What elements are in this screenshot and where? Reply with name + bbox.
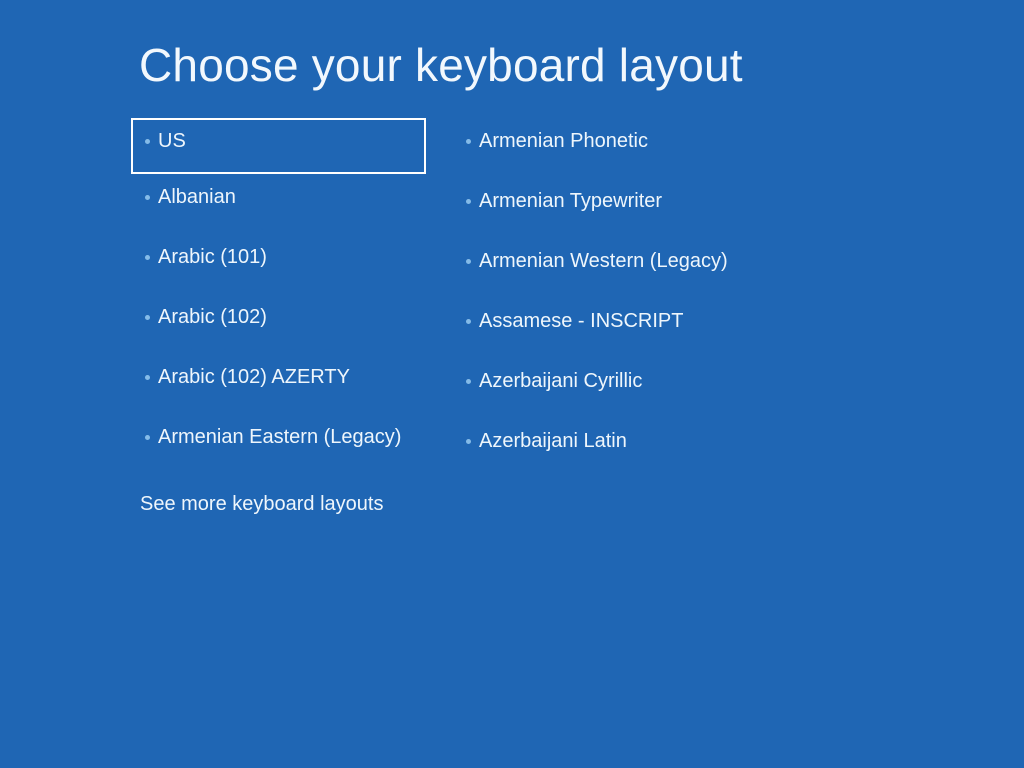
bullet-icon: [466, 259, 471, 264]
layout-option-azerbaijani-latin[interactable]: Azerbaijani Latin: [456, 418, 786, 478]
layout-option-armenian-phonetic[interactable]: Armenian Phonetic: [456, 118, 786, 178]
layout-option-label: US: [158, 129, 186, 153]
layout-option-label: Armenian Eastern (Legacy): [158, 425, 401, 449]
layout-option-arabic-102-azerty[interactable]: Arabic (102) AZERTY: [131, 354, 431, 414]
bullet-icon: [145, 255, 150, 260]
layout-option-label: Arabic (102): [158, 305, 267, 329]
keyboard-layout-screen: Choose your keyboard layout US Albanian …: [0, 0, 1024, 768]
bullet-icon: [466, 199, 471, 204]
bullet-icon: [145, 375, 150, 380]
layout-option-armenian-eastern-legacy[interactable]: Armenian Eastern (Legacy): [131, 414, 431, 474]
layout-option-label: Arabic (101): [158, 245, 267, 269]
bullet-icon: [466, 319, 471, 324]
layout-option-arabic-102[interactable]: Arabic (102): [131, 294, 431, 354]
layout-option-label: Armenian Phonetic: [479, 129, 648, 153]
keyboard-layout-list: US Albanian Arabic (101) Arabic (102) Ar…: [0, 0, 1024, 768]
layout-option-azerbaijani-cyrillic[interactable]: Azerbaijani Cyrillic: [456, 358, 786, 418]
layout-option-assamese-inscript[interactable]: Assamese - INSCRIPT: [456, 298, 786, 358]
layout-option-arabic-101[interactable]: Arabic (101): [131, 234, 431, 294]
layout-option-albanian[interactable]: Albanian: [131, 174, 431, 234]
layout-column-right: Armenian Phonetic Armenian Typewriter Ar…: [456, 118, 786, 478]
bullet-icon: [145, 195, 150, 200]
bullet-icon: [466, 379, 471, 384]
bullet-icon: [145, 139, 150, 144]
bullet-icon: [466, 439, 471, 444]
layout-column-left: US Albanian Arabic (101) Arabic (102) Ar…: [131, 118, 431, 474]
layout-option-label: Arabic (102) AZERTY: [158, 365, 350, 389]
layout-option-label: Assamese - INSCRIPT: [479, 309, 683, 333]
layout-option-label: Azerbaijani Latin: [479, 429, 627, 453]
see-more-keyboard-layouts-link[interactable]: See more keyboard layouts: [140, 492, 383, 516]
bullet-icon: [145, 435, 150, 440]
layout-option-armenian-typewriter[interactable]: Armenian Typewriter: [456, 178, 786, 238]
bullet-icon: [145, 315, 150, 320]
layout-option-armenian-western-legacy[interactable]: Armenian Western (Legacy): [456, 238, 786, 298]
layout-option-label: Armenian Western (Legacy): [479, 249, 728, 273]
layout-option-label: Azerbaijani Cyrillic: [479, 369, 642, 393]
layout-option-us[interactable]: US: [131, 118, 426, 174]
layout-option-label: Armenian Typewriter: [479, 189, 662, 213]
bullet-icon: [466, 139, 471, 144]
layout-option-label: Albanian: [158, 185, 236, 209]
